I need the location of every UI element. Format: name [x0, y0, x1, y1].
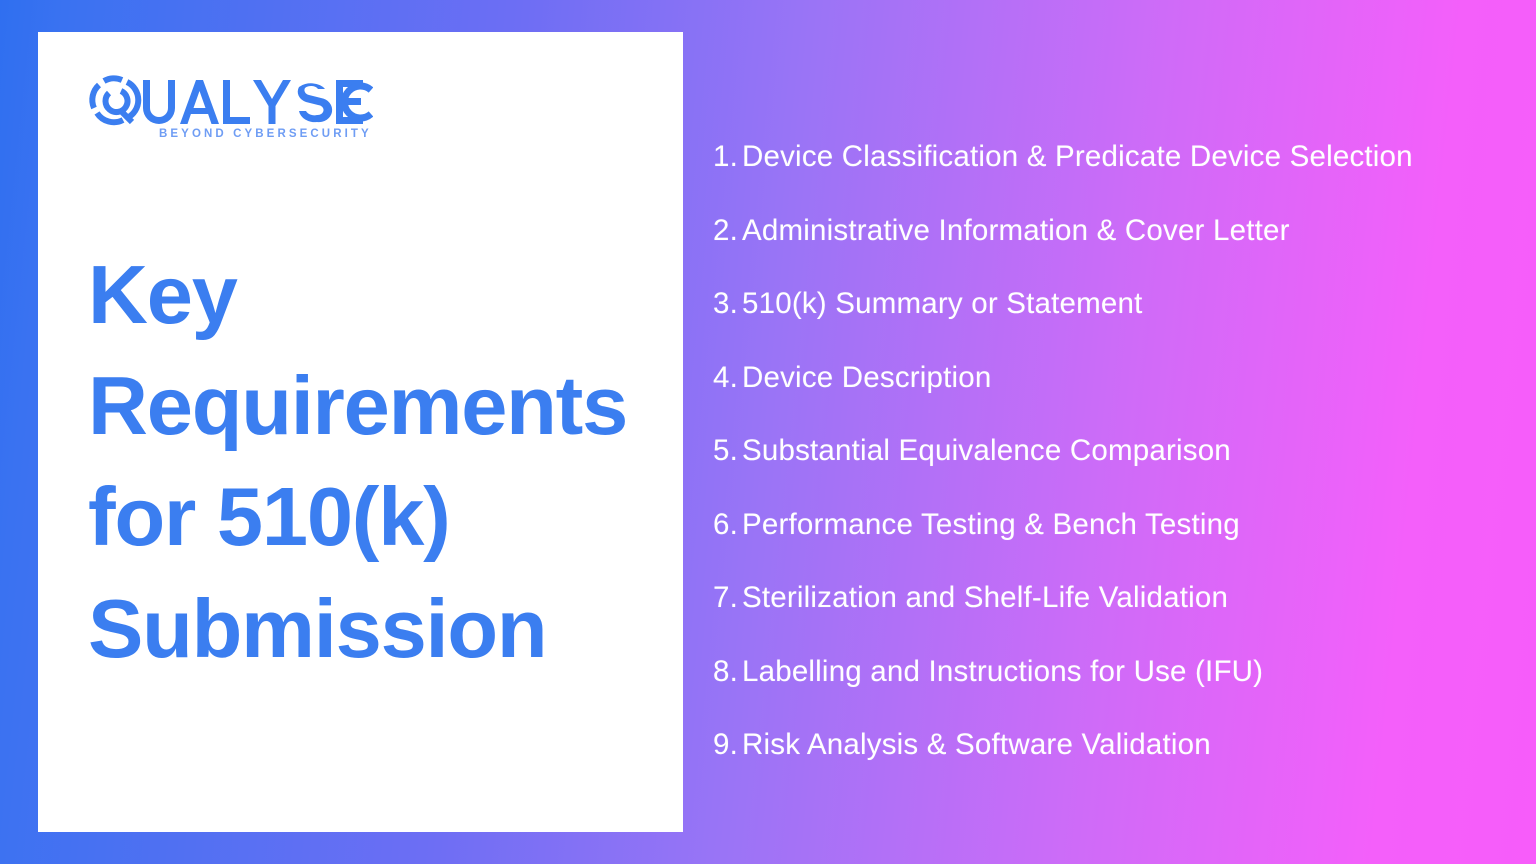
list-item-label: Device Description — [742, 361, 992, 395]
list-item-label: Performance Testing & Bench Testing — [742, 508, 1240, 542]
list-item-number: 5. — [705, 434, 742, 468]
list-item: 8. Labelling and Instructions for Use (I… — [705, 655, 1515, 729]
list-item-label: Labelling and Instructions for Use (IFU) — [742, 655, 1263, 689]
list-item-number: 4. — [705, 361, 742, 395]
list-item: 4. Device Description — [705, 361, 1515, 435]
list-item-label: Administrative Information & Cover Lette… — [742, 214, 1290, 248]
list-item: 9. Risk Analysis & Software Validation — [705, 728, 1515, 802]
list-item-label: Risk Analysis & Software Validation — [742, 728, 1211, 762]
list-item: 2. Administrative Information & Cover Le… — [705, 214, 1515, 288]
logo-tagline: BEYOND CYBERSECURITY — [159, 128, 372, 140]
qualysec-wordmark-icon — [83, 70, 373, 130]
list-item-label: Sterilization and Shelf-Life Validation — [742, 581, 1228, 615]
list-item-number: 2. — [705, 214, 742, 248]
list-item-label: Substantial Equivalence Comparison — [742, 434, 1231, 468]
list-item-number: 3. — [705, 287, 742, 321]
list-item: 6. Performance Testing & Bench Testing — [705, 508, 1515, 582]
left-white-panel: BEYOND CYBERSECURITY Key Requirements fo… — [38, 32, 683, 832]
list-item-number: 9. — [705, 728, 742, 762]
page-title: Key Requirements for 510(k) Submission — [88, 239, 668, 684]
requirements-list: 1. Device Classification & Predicate Dev… — [705, 140, 1515, 802]
list-item: 3. 510(k) Summary or Statement — [705, 287, 1515, 361]
list-item: 7. Sterilization and Shelf-Life Validati… — [705, 581, 1515, 655]
list-item-label: 510(k) Summary or Statement — [742, 287, 1143, 321]
list-item-number: 1. — [705, 140, 742, 174]
list-item: 1. Device Classification & Predicate Dev… — [705, 140, 1515, 214]
list-item: 5. Substantial Equivalence Comparison — [705, 434, 1515, 508]
qualysec-logo: BEYOND CYBERSECURITY — [83, 70, 373, 152]
slide-canvas: BEYOND CYBERSECURITY Key Requirements fo… — [0, 0, 1536, 864]
list-item-number: 7. — [705, 581, 742, 615]
list-item-number: 8. — [705, 655, 742, 689]
list-item-number: 6. — [705, 508, 742, 542]
list-item-label: Device Classification & Predicate Device… — [742, 140, 1413, 174]
